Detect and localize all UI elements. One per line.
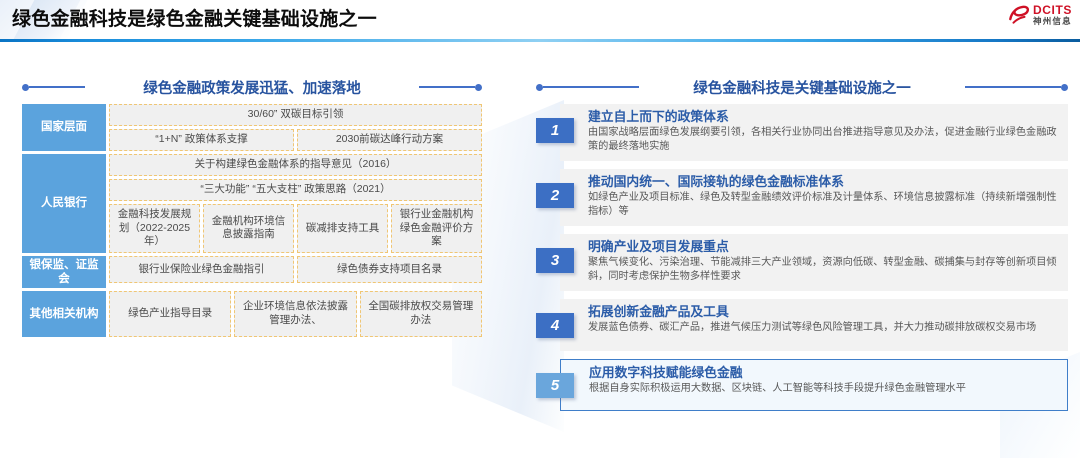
line-end-dot-icon [22,84,29,91]
key-point-title: 明确产业及项目发展重点 [588,239,1058,255]
policy-cell-row: 银行业保险业绿色金融指引绿色债券支持项目名录 [109,256,482,283]
key-point-item[interactable]: 1建立自上而下的政策体系由国家战略层面绿色发展纲要引领，各相关行业协同出台推进指… [536,104,1068,161]
page-title: 绿色金融科技是绿色金融关键基础设施之一 [12,4,377,31]
policy-row-label: 人民银行 [22,154,106,253]
policy-cell[interactable]: 全国碳排放权交易管理办法 [360,291,482,337]
key-point-description: 由国家战略层面绿色发展纲要引领，各相关行业协同出台推进指导意见及办法，促进金融行… [588,126,1058,155]
policy-row-cells: 30/60” 双碳目标引领“1+N” 政策体系支撑2030前碳达峰行动方案 [109,104,482,151]
slide-canvas: 绿色金融科技是绿色金融关键基础设施之一 DCITS 神州信息 绿色金融政策发展迅… [0,0,1080,458]
title-underline-rule [0,39,1080,42]
policy-cell[interactable]: 银行业金融机构绿色金融评价方案 [391,204,482,253]
key-point-body: 推动国内统一、国际接轨的绿色金融标准体系如绿色产业及项目标准、绿色及转型金融绩效… [560,169,1068,226]
logo-wordmark: DCITS 神州信息 [1033,4,1072,26]
right-section-title: 绿色金融科技是关键基础设施之一 [693,77,911,98]
key-point-body: 应用数字科技赋能绿色金融根据自身实际积极运用大数据、区块链、人工智能等科技手段提… [560,359,1068,411]
dcits-swoosh-icon [1008,4,1030,26]
policy-row-label: 国家层面 [22,104,106,151]
policy-table-row: 银保监、证监会银行业保险业绿色金融指引绿色债券支持项目名录 [22,256,482,288]
policy-cell[interactable]: 银行业保险业绿色金融指引 [109,256,294,283]
key-point-title: 推动国内统一、国际接轨的绿色金融标准体系 [588,174,1058,190]
policy-cell[interactable]: 关于构建绿色金融体系的指导意见（2016） [109,154,482,176]
policy-cell[interactable]: 绿色债券支持项目名录 [297,256,482,283]
line-end-dot-icon [536,84,543,91]
key-points-list: 1建立自上而下的政策体系由国家战略层面绿色发展纲要引领，各相关行业协同出台推进指… [536,104,1068,419]
policy-row-cells: 绿色产业指导目录企业环境信息依法披露管理办法、全国碳排放权交易管理办法 [109,291,482,337]
policy-row-label: 银保监、证监会 [22,256,106,288]
key-point-body: 建立自上而下的政策体系由国家战略层面绿色发展纲要引领，各相关行业协同出台推进指导… [560,104,1068,161]
policy-table-row: 国家层面30/60” 双碳目标引领“1+N” 政策体系支撑2030前碳达峰行动方… [22,104,482,151]
key-point-title: 应用数字科技赋能绿色金融 [589,365,1057,381]
policy-cell[interactable]: 30/60” 双碳目标引领 [109,104,482,126]
policy-row-label: 其他相关机构 [22,291,106,337]
policy-cell[interactable]: 2030前碳达峰行动方案 [297,129,482,151]
policy-row-cells: 银行业保险业绿色金融指引绿色债券支持项目名录 [109,256,482,288]
key-point-number-badge: 1 [536,118,574,143]
logo-name-en: DCITS [1033,4,1072,16]
policy-row-cells: 关于构建绿色金融体系的指导意见（2016）“三大功能” “五大支柱” 政策思路（… [109,154,482,253]
rule-bar [29,86,85,88]
policy-cell-row: 绿色产业指导目录企业环境信息依法披露管理办法、全国碳排放权交易管理办法 [109,291,482,337]
logo-name-cn: 神州信息 [1033,17,1072,26]
key-point-item[interactable]: 3明确产业及项目发展重点聚焦气候变化、污染治理、节能减排三大产业领域，资源向低碳… [536,234,1068,291]
policy-cell[interactable]: 企业环境信息依法披露管理办法、 [234,291,356,337]
key-point-description: 根据自身实际积极运用大数据、区块链、人工智能等科技手段提升绿色金融管理水平 [589,382,1057,396]
policy-cell[interactable]: 绿色产业指导目录 [109,291,231,337]
policy-table: 国家层面30/60” 双碳目标引领“1+N” 政策体系支撑2030前碳达峰行动方… [22,104,482,337]
policy-table-row: 人民银行关于构建绿色金融体系的指导意见（2016）“三大功能” “五大支柱” 政… [22,154,482,253]
policy-table-row: 其他相关机构绿色产业指导目录企业环境信息依法披露管理办法、全国碳排放权交易管理办… [22,291,482,337]
line-end-dot-icon [1061,84,1068,91]
key-point-item[interactable]: 2推动国内统一、国际接轨的绿色金融标准体系如绿色产业及项目标准、绿色及转型金融绩… [536,169,1068,226]
left-heading-rule-end [419,84,482,91]
left-heading-rule-start [22,84,85,91]
right-section-header: 绿色金融科技是关键基础设施之一 [536,76,1068,98]
right-heading-rule-start [536,84,639,91]
key-point-number-badge: 5 [536,373,574,398]
key-point-description: 如绿色产业及项目标准、绿色及转型金融绩效评价标准及计量体系、环境信息披露标准（持… [588,191,1058,220]
rule-bar [965,86,1061,88]
policy-cell[interactable]: 金融机构环境信息披露指南 [203,204,294,253]
policy-cell-row: “1+N” 政策体系支撑2030前碳达峰行动方案 [109,129,482,151]
key-point-title: 建立自上而下的政策体系 [588,109,1058,125]
key-point-title: 拓展创新金融产品及工具 [588,304,1058,320]
key-point-number-badge: 3 [536,248,574,273]
line-end-dot-icon [475,84,482,91]
key-point-description: 聚焦气候变化、污染治理、节能减排三大产业领域，资源向低碳、转型金融、碳捕集与封存… [588,256,1058,285]
key-point-description: 发展蓝色债券、碳汇产品，推进气候压力测试等绿色风险管理工具，并大力推动碳排放碳权… [588,321,1058,335]
rule-bar [543,86,639,88]
key-point-number-badge: 2 [536,183,574,208]
rule-bar [419,86,475,88]
key-point-item[interactable]: 5应用数字科技赋能绿色金融根据自身实际积极运用大数据、区块链、人工智能等科技手段… [536,359,1068,411]
right-heading-rule-end [965,84,1068,91]
policy-cell-row: 关于构建绿色金融体系的指导意见（2016） [109,154,482,176]
key-point-item[interactable]: 4拓展创新金融产品及工具发展蓝色债券、碳汇产品，推进气候压力测试等绿色风险管理工… [536,299,1068,351]
policy-cell[interactable]: 碳减排支持工具 [297,204,388,253]
company-logo: DCITS 神州信息 [1008,4,1072,26]
policy-cell[interactable]: “1+N” 政策体系支撑 [109,129,294,151]
key-point-number-badge: 4 [536,313,574,338]
left-section-title: 绿色金融政策发展迅猛、加速落地 [143,77,361,98]
policy-cell-row: 金融科技发展规划（2022-2025年）金融机构环境信息披露指南碳减排支持工具银… [109,204,482,253]
policy-cell[interactable]: 金融科技发展规划（2022-2025年） [109,204,200,253]
key-point-body: 明确产业及项目发展重点聚焦气候变化、污染治理、节能减排三大产业领域，资源向低碳、… [560,234,1068,291]
key-point-body: 拓展创新金融产品及工具发展蓝色债券、碳汇产品，推进气候压力测试等绿色风险管理工具… [560,299,1068,351]
policy-cell-row: 30/60” 双碳目标引领 [109,104,482,126]
policy-cell[interactable]: “三大功能” “五大支柱” 政策思路（2021） [109,179,482,201]
policy-cell-row: “三大功能” “五大支柱” 政策思路（2021） [109,179,482,201]
left-section-header: 绿色金融政策发展迅猛、加速落地 [22,76,482,98]
